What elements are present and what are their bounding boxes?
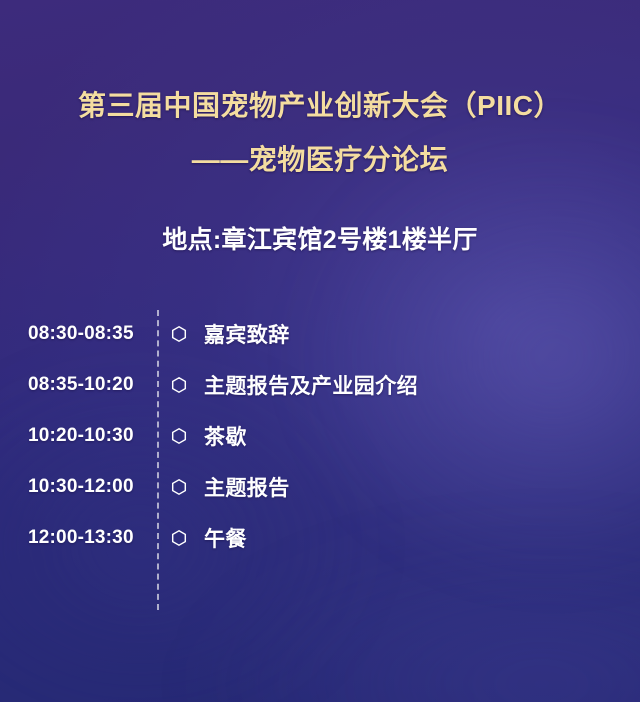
hexagon-icon bbox=[170, 529, 188, 547]
schedule-row: 08:30-08:35 嘉宾致辞 bbox=[28, 308, 640, 359]
schedule-time: 08:35-10:20 bbox=[28, 374, 148, 396]
schedule-label: 嘉宾致辞 bbox=[204, 319, 290, 349]
schedule-row: 08:35-10:20 主题报告及产业园介绍 bbox=[28, 359, 640, 410]
schedule-list: 08:30-08:35 嘉宾致辞 08:35-10:20 主题报告及产业园介绍 … bbox=[0, 308, 640, 563]
schedule-label: 主题报告 bbox=[204, 472, 290, 502]
schedule-label: 茶歇 bbox=[204, 421, 247, 451]
schedule-time: 10:30-12:00 bbox=[28, 476, 148, 498]
schedule-time: 12:00-13:30 bbox=[28, 527, 148, 549]
hexagon-icon bbox=[170, 478, 188, 496]
schedule-time: 08:30-08:35 bbox=[28, 323, 148, 345]
schedule-row: 12:00-13:30 午餐 bbox=[28, 512, 640, 563]
schedule-row: 10:30-12:00 主题报告 bbox=[28, 461, 640, 512]
conference-agenda-poster: 第三届中国宠物产业创新大会（PIIC） ——宠物医疗分论坛 地点:章江宾馆2号楼… bbox=[0, 0, 640, 702]
hexagon-icon bbox=[170, 325, 188, 343]
schedule-time: 10:20-10:30 bbox=[28, 425, 148, 447]
poster-header: 第三届中国宠物产业创新大会（PIIC） ——宠物医疗分论坛 bbox=[0, 0, 640, 174]
conference-title-line-1: 第三届中国宠物产业创新大会（PIIC） bbox=[0, 92, 640, 120]
hexagon-icon bbox=[170, 376, 188, 394]
schedule-label: 午餐 bbox=[204, 523, 247, 553]
venue-text: 地点:章江宾馆2号楼1楼半厅 bbox=[0, 220, 640, 256]
conference-title-line-2: ——宠物医疗分论坛 bbox=[0, 146, 640, 174]
hexagon-icon bbox=[170, 427, 188, 445]
schedule-row: 10:20-10:30 茶歇 bbox=[28, 410, 640, 461]
schedule-label: 主题报告及产业园介绍 bbox=[204, 370, 418, 400]
